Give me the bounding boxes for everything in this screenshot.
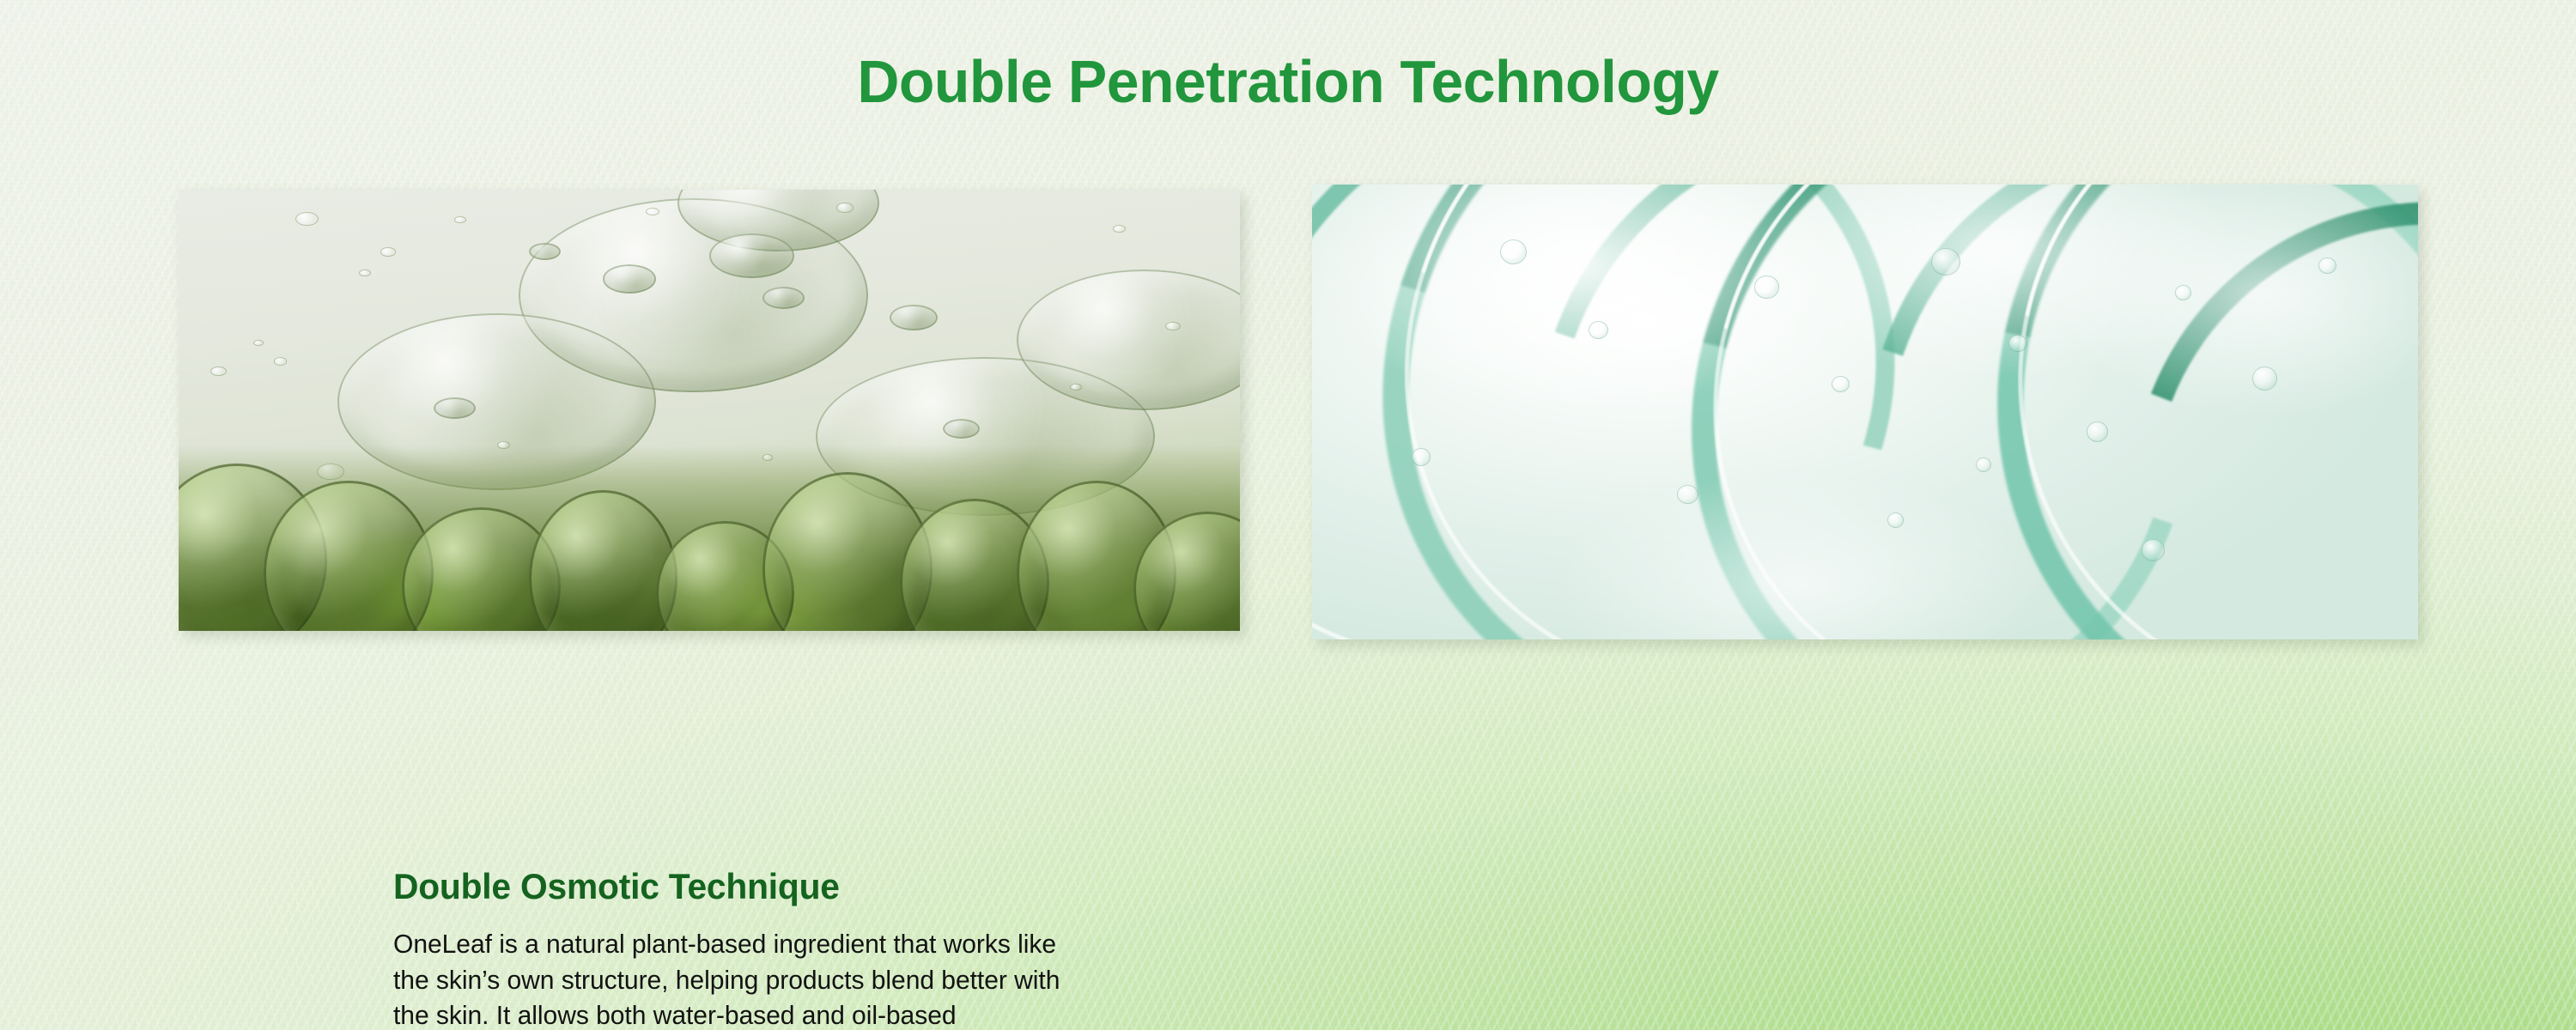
air-bubble xyxy=(1754,276,1778,299)
micro-bubble xyxy=(210,367,227,376)
bubble xyxy=(709,233,794,277)
panel-body-left: OneLeaf is a natural plant-based ingredi… xyxy=(393,927,1391,1030)
micro-bubble xyxy=(1113,225,1126,233)
bubble xyxy=(529,243,561,261)
air-bubble xyxy=(2175,285,2191,300)
air-bubble xyxy=(2142,539,2165,560)
air-bubble xyxy=(2252,367,2278,391)
micro-bubble xyxy=(380,247,397,257)
panel-spin-loaded-infiltration-system: Spin-Loaded Infiltration System A smart … xyxy=(1312,185,2418,639)
caption-double-osmotic-technique: Double Osmotic Technique OneLeaf is a na… xyxy=(393,866,1406,1030)
body-line: the skin’s own structure, helping produc… xyxy=(393,963,1391,999)
micro-bubble xyxy=(836,203,854,212)
page-title: Double Penetration Technology xyxy=(39,47,2537,117)
air-bubble xyxy=(2318,257,2336,274)
micro-bubble xyxy=(274,357,287,365)
air-bubble xyxy=(1976,457,1991,472)
air-bubble xyxy=(1931,248,1959,276)
micro-bubble xyxy=(454,216,466,223)
infographic-canvas: Double Penetration Technology xyxy=(0,0,2576,1030)
air-bubble xyxy=(1832,376,1850,392)
air-bubble xyxy=(2087,421,2109,442)
bubble xyxy=(603,264,656,293)
air-bubble xyxy=(1887,512,1904,528)
micro-bubble xyxy=(295,212,319,226)
gel-spiral-ribbons-photo xyxy=(1312,185,2418,639)
body-line: the skin. It allows both water-based and… xyxy=(393,998,1391,1030)
oil-bubbles-macro-photo xyxy=(179,190,1240,631)
panel-double-osmotic-technique: Double Osmotic Technique OneLeaf is a na… xyxy=(179,190,1240,631)
body-line: OneLeaf is a natural plant-based ingredi… xyxy=(393,927,1391,963)
bubble xyxy=(434,397,476,420)
bubble xyxy=(890,305,938,331)
air-bubble xyxy=(1677,485,1698,504)
panel-heading-left: Double Osmotic Technique xyxy=(393,866,1376,906)
photo-highlight-glow xyxy=(1312,185,2418,639)
micro-bubble xyxy=(1070,384,1082,391)
bubble xyxy=(762,287,805,309)
micro-bubble xyxy=(253,340,264,346)
micro-bubble xyxy=(646,208,659,215)
air-bubble xyxy=(1412,448,1431,465)
air-bubble xyxy=(1500,239,1527,264)
micro-bubble xyxy=(359,270,371,276)
